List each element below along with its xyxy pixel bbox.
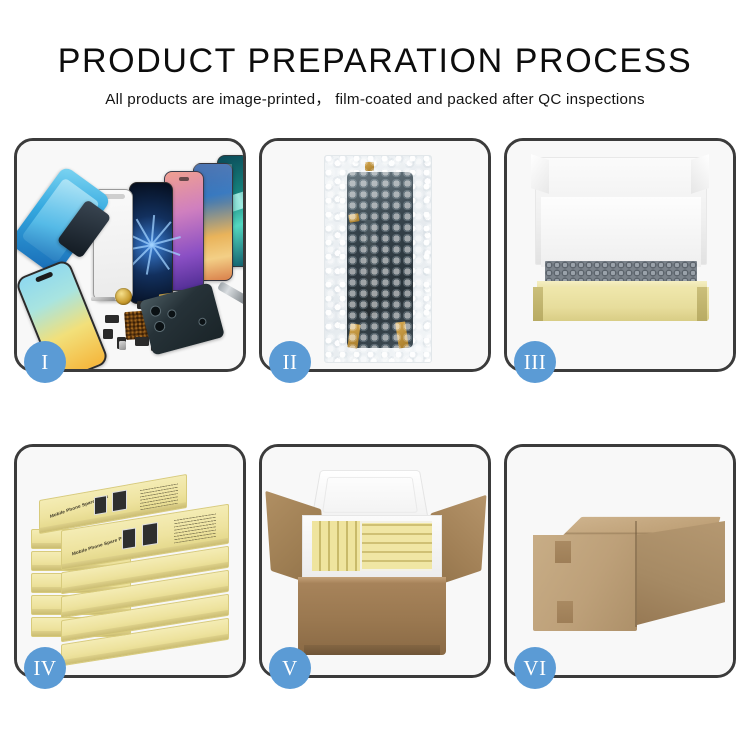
step-badge-2: II	[269, 341, 311, 383]
step-badge-1: I	[24, 341, 66, 383]
carton-corner-seam	[635, 521, 637, 627]
lid-flap-right	[691, 154, 709, 194]
process-steps-grid: I II	[14, 138, 736, 678]
page-title: PRODUCT PREPARATION PROCESS	[0, 0, 750, 78]
antenna-strip-part	[91, 297, 115, 301]
box-base-front	[533, 287, 709, 321]
panel-4-image: Mobile Phone Spare Parts Mobile Phone Sp…	[17, 447, 243, 675]
vibrator-part	[135, 337, 149, 346]
box-stack: Mobile Phone Spare Parts Mobile Phone Sp…	[27, 467, 239, 663]
sim-tray-part	[119, 341, 126, 350]
header: PRODUCT PREPARATION PROCESS All products…	[0, 0, 750, 107]
process-step-panel-1[interactable]: I	[14, 138, 246, 372]
process-step-panel-3[interactable]: III	[504, 138, 736, 372]
step-badge-5: V	[269, 647, 311, 689]
inner-boxes-horizontal	[362, 523, 432, 569]
step-badge-4: IV	[24, 647, 66, 689]
page-subtitle: All products are image-printed， film-coa…	[0, 78, 750, 107]
process-step-panel-5[interactable]: V	[259, 444, 491, 678]
box-base-side-left	[533, 287, 543, 321]
speaker-coil-part	[115, 288, 132, 305]
carton-body	[298, 577, 446, 655]
step-badge-3: III	[514, 341, 556, 383]
foam-lid	[311, 470, 429, 520]
panel-5-image	[262, 447, 488, 675]
process-step-panel-6[interactable]: VI	[504, 444, 736, 678]
step-badge-6: VI	[514, 647, 556, 689]
inner-boxes-vertical	[312, 521, 360, 571]
panel-6-image	[507, 447, 733, 675]
panel-3-image	[507, 141, 733, 369]
carton-tape-upper	[555, 541, 571, 563]
screwdriver-tool	[217, 281, 243, 306]
carton-tape-lower	[557, 601, 573, 623]
panel-1-image	[17, 141, 243, 369]
connector-part-2	[103, 329, 113, 339]
lid-flap-left	[531, 154, 549, 194]
carton-side-face	[637, 521, 725, 625]
connector-part-1	[105, 315, 119, 323]
carton-front-face	[533, 535, 637, 631]
packed-inner-boxes	[312, 521, 432, 571]
process-step-panel-2[interactable]: II	[259, 138, 491, 372]
phone-parts-scene	[17, 141, 243, 369]
process-step-panel-4[interactable]: Mobile Phone Spare Parts Mobile Phone Sp…	[14, 444, 246, 678]
box-base-side-right	[697, 287, 707, 321]
bubble-texture-overlay	[325, 156, 431, 362]
sealed-carton	[525, 481, 725, 631]
phone-screen-blue-dark	[129, 182, 173, 304]
product-preparation-infographic: PRODUCT PREPARATION PROCESS All products…	[0, 0, 750, 750]
panel-2-image	[262, 141, 488, 369]
bubble-wrap-bag	[324, 155, 432, 363]
box-inner-liner	[541, 197, 701, 267]
